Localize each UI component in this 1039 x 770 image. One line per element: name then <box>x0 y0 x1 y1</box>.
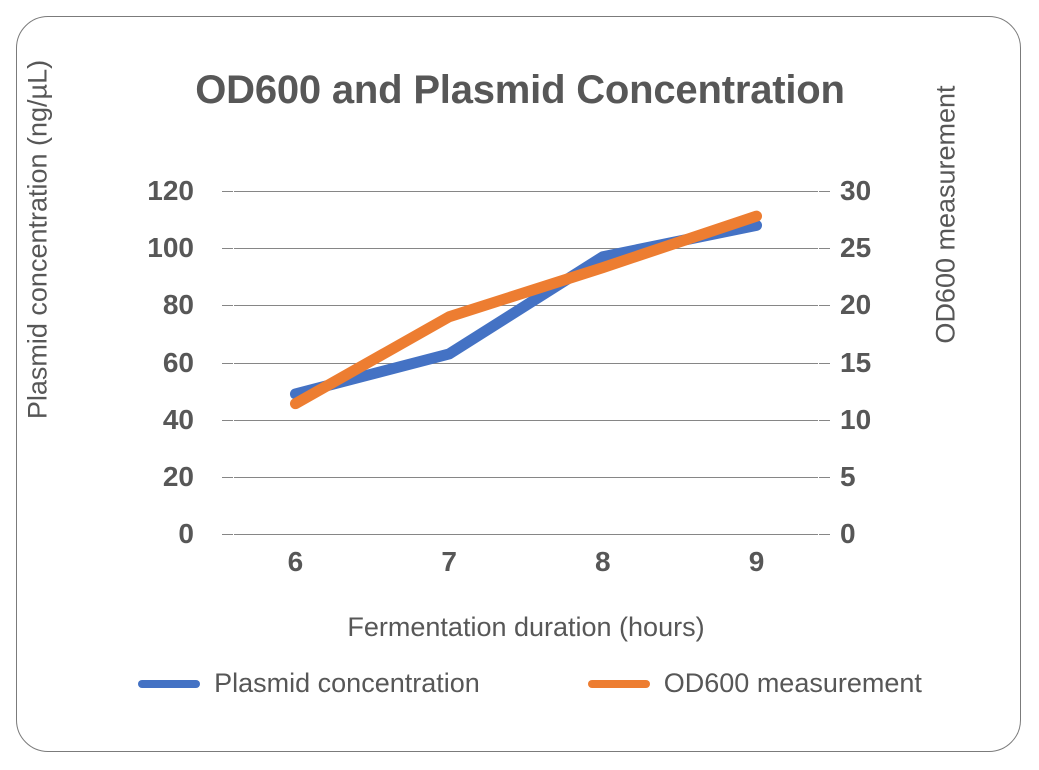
chart-legend: Plasmid concentrationOD600 measurement <box>150 668 910 699</box>
y-axis-left-tick <box>222 477 233 478</box>
y-axis-left-tick-label: 80 <box>114 291 194 319</box>
legend-label: OD600 measurement <box>664 668 922 699</box>
legend-item[interactable]: OD600 measurement <box>588 668 922 699</box>
y-axis-right-tick-label: 25 <box>840 234 910 262</box>
y-axis-left-tick <box>222 420 233 421</box>
chart-title: OD600 and Plasmid Concentration <box>60 68 980 113</box>
y-axis-left-tick-label: 0 <box>114 520 194 548</box>
gridline <box>234 534 818 535</box>
slide-canvas: OD600 and Plasmid Concentration 12010080… <box>0 0 1039 770</box>
y-axis-left-title: Plasmid concentration (ng/µL) <box>23 0 54 490</box>
series-lines <box>234 191 818 534</box>
y-axis-left-tick-label: 40 <box>114 406 194 434</box>
y-axis-right-tick-label: 20 <box>840 291 910 319</box>
y-axis-right-tick <box>819 191 830 192</box>
y-axis-right-title: OD600 measurement <box>931 15 962 415</box>
y-axis-right-tick <box>819 305 830 306</box>
y-axis-right-tick-label: 15 <box>840 349 910 377</box>
legend-label: Plasmid concentration <box>214 668 480 699</box>
y-axis-right-tick-label: 10 <box>840 406 910 434</box>
y-axis-left-tick <box>222 534 233 535</box>
y-axis-right-tick-label: 0 <box>840 520 910 548</box>
y-axis-right-tick-label: 5 <box>840 463 910 491</box>
y-axis-left-tick-label: 120 <box>114 177 194 205</box>
y-axis-left-tick-label: 60 <box>114 349 194 377</box>
x-axis-tick-label: 7 <box>419 548 479 576</box>
x-axis-tick-label: 9 <box>727 548 787 576</box>
y-axis-right-tick-label: 30 <box>840 177 910 205</box>
legend-item[interactable]: Plasmid concentration <box>138 668 480 699</box>
plot-area <box>234 191 818 534</box>
y-axis-left-tick <box>222 363 233 364</box>
y-axis-right-tick <box>819 363 830 364</box>
x-axis-title: Fermentation duration (hours) <box>234 612 818 643</box>
y-axis-left-tick <box>222 305 233 306</box>
legend-swatch-icon <box>588 680 650 688</box>
legend-swatch-icon <box>138 680 200 688</box>
y-axis-right-tick <box>819 477 830 478</box>
y-axis-right-tick <box>819 420 830 421</box>
y-axis-left-tick <box>222 248 233 249</box>
y-axis-left-tick <box>222 191 233 192</box>
y-axis-right-tick <box>819 534 830 535</box>
y-axis-left-tick-label: 100 <box>114 234 194 262</box>
x-axis-tick-label: 6 <box>265 548 325 576</box>
x-axis-tick-label: 8 <box>573 548 633 576</box>
y-axis-left-tick-label: 20 <box>114 463 194 491</box>
y-axis-right-tick <box>819 248 830 249</box>
